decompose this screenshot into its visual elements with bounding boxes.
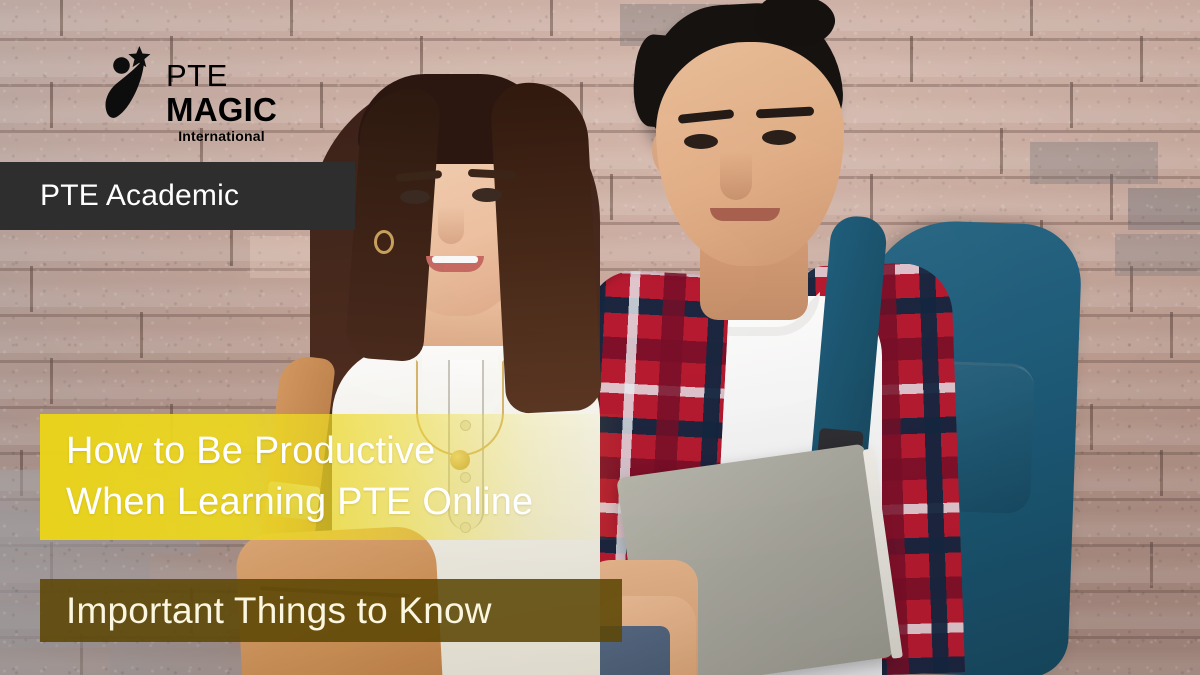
subtitle-band: Important Things to Know xyxy=(40,579,622,642)
pte-magic-star-figure-icon xyxy=(104,46,160,124)
male-eye-left xyxy=(684,134,718,149)
blog-header-banner: PTE MAGIC International PTE Academic How… xyxy=(0,0,1200,675)
category-badge[interactable]: PTE Academic xyxy=(0,162,355,230)
title-band: How to Be Productive When Learning PTE O… xyxy=(40,414,622,540)
logo-line-international: International xyxy=(166,129,277,143)
title-line-2: When Learning PTE Online xyxy=(66,477,622,528)
female-eye-left xyxy=(400,190,430,204)
female-hair-right xyxy=(489,80,602,415)
pte-magic-logo[interactable]: PTE MAGIC International xyxy=(104,46,277,143)
title-line-1: How to Be Productive xyxy=(66,426,622,477)
female-teeth xyxy=(432,256,478,263)
female-nose xyxy=(438,206,464,244)
logo-line-magic: MAGIC xyxy=(166,93,277,126)
subtitle-label: Important Things to Know xyxy=(66,590,492,632)
logo-line-pte: PTE xyxy=(166,60,277,91)
male-mouth xyxy=(710,208,780,221)
category-badge-label: PTE Academic xyxy=(0,179,239,213)
male-eye-right xyxy=(762,130,796,145)
female-eye-right xyxy=(472,188,502,202)
hoop-earring xyxy=(374,230,394,254)
male-nose xyxy=(720,152,752,200)
logo-wordmark: PTE MAGIC International xyxy=(166,60,277,143)
